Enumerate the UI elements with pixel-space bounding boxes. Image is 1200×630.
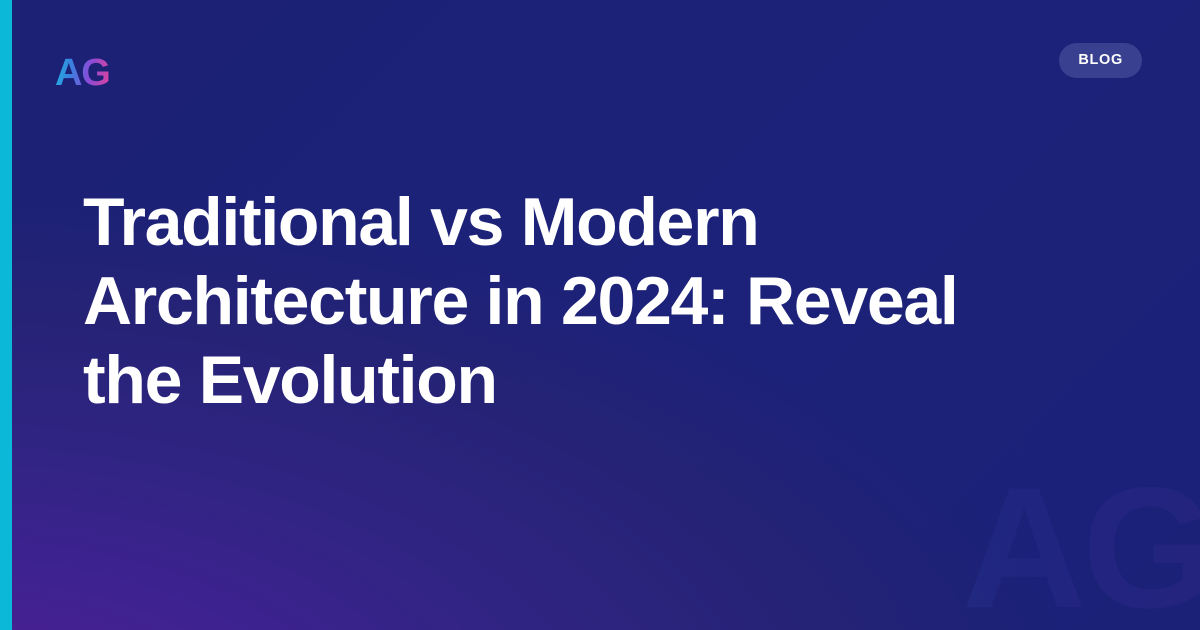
title-container: Traditional vs Modern Architecture in 20… — [83, 183, 1073, 420]
brand-logo[interactable]: AG — [55, 54, 110, 92]
left-accent-bar — [0, 0, 12, 630]
brand-watermark: AG — [962, 462, 1200, 630]
blog-badge: BLOG — [1059, 43, 1142, 78]
page-title: Traditional vs Modern Architecture in 20… — [83, 183, 1073, 420]
card-header: AG BLOG — [0, 0, 1200, 122]
og-image-card: AG AG BLOG Traditional vs Modern Archite… — [0, 0, 1200, 630]
